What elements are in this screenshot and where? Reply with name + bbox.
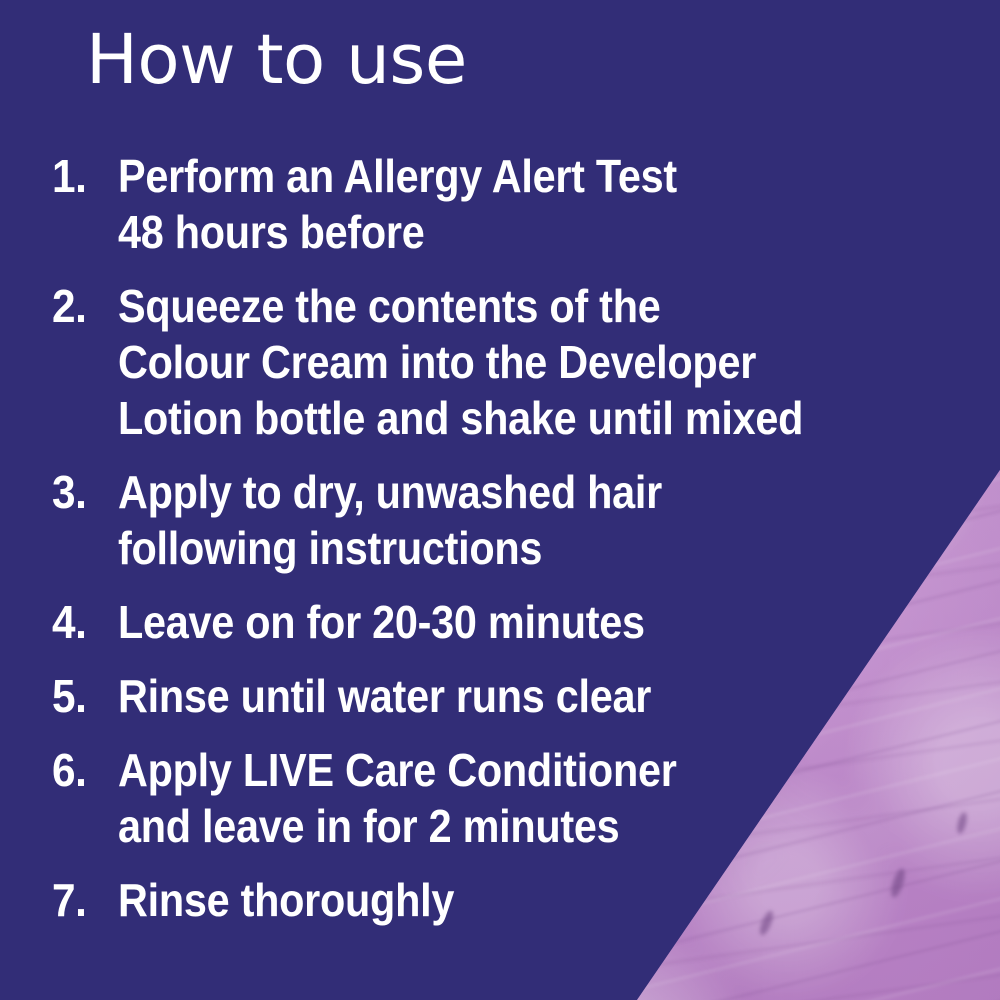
step-number: 7. <box>52 872 113 928</box>
step-text: Apply LIVE Care Conditioner and leave in… <box>118 742 869 854</box>
step-text: Rinse thoroughly <box>118 872 869 928</box>
step-number: 2. <box>52 278 113 334</box>
step-text: Squeeze the contents of the Colour Cream… <box>118 278 869 446</box>
step-text: Perform an Allergy Alert Test 48 hours b… <box>118 148 869 260</box>
step-number: 4. <box>52 594 113 650</box>
step-number: 3. <box>52 464 113 520</box>
step-text: Rinse until water runs clear <box>118 668 869 724</box>
step-number: 5. <box>52 668 113 724</box>
how-to-use-poster: How to use 1. Perform an Allergy Alert T… <box>0 0 1000 1000</box>
list-item: 2. Squeeze the contents of the Colour Cr… <box>52 278 952 446</box>
list-item: 4. Leave on for 20-30 minutes <box>52 594 952 650</box>
step-text: Leave on for 20-30 minutes <box>118 594 869 650</box>
step-number: 6. <box>52 742 113 798</box>
list-item: 3. Apply to dry, unwashed hair following… <box>52 464 952 576</box>
instruction-step-list: 1. Perform an Allergy Alert Test 48 hour… <box>52 148 952 946</box>
page-title: How to use <box>86 26 467 95</box>
list-item: 6. Apply LIVE Care Conditioner and leave… <box>52 742 952 854</box>
list-item: 1. Perform an Allergy Alert Test 48 hour… <box>52 148 952 260</box>
list-item: 7. Rinse thoroughly <box>52 872 952 928</box>
step-number: 1. <box>52 148 113 204</box>
step-text: Apply to dry, unwashed hair following in… <box>118 464 869 576</box>
list-item: 5. Rinse until water runs clear <box>52 668 952 724</box>
